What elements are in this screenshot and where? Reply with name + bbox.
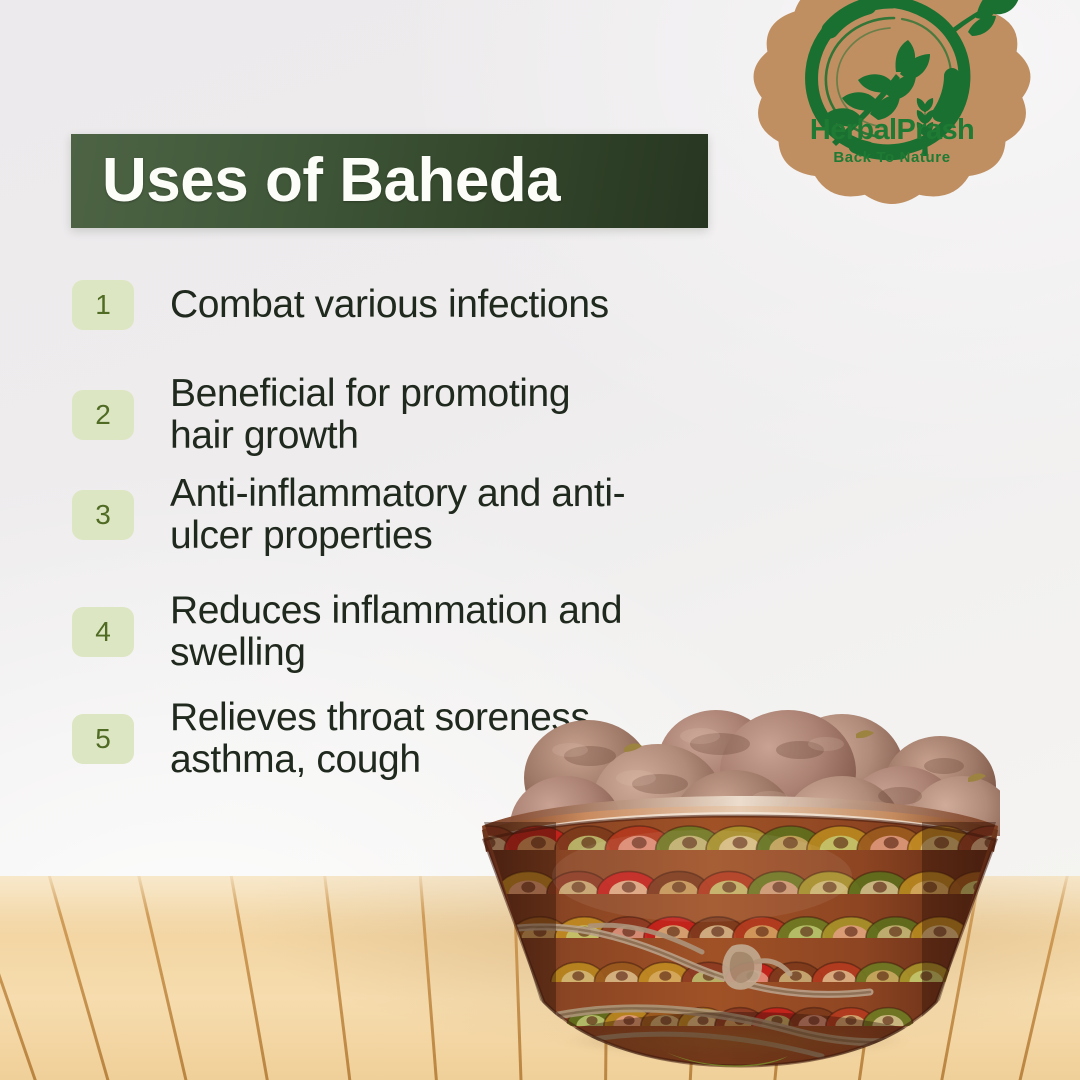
use-number-badge: 5 <box>72 714 134 764</box>
logo-mark-icon <box>744 0 1040 214</box>
use-item: 3Anti-inflammatory and anti- ulcer prope… <box>72 473 625 557</box>
table-plank-line <box>45 876 111 1080</box>
table-plank-line <box>228 876 271 1080</box>
use-item-text: Reduces inflammation and swelling <box>170 590 622 674</box>
brand-logo[interactable]: TM HerbalPrash Back To Nature <box>744 0 1040 214</box>
baheda-bowl-photo <box>470 700 1010 1080</box>
use-item-text: Anti-inflammatory and anti- ulcer proper… <box>170 473 625 557</box>
logo-tagline: Back To Nature <box>744 150 1040 165</box>
use-item: 1Combat various infections <box>72 280 609 330</box>
use-item: 4Reduces inflammation and swelling <box>72 590 622 674</box>
use-item: 2Beneficial for promoting hair growth <box>72 373 570 457</box>
use-number-badge: 1 <box>72 280 134 330</box>
table-plank-line <box>1016 876 1071 1080</box>
logo-wordmark: HerbalPrash <box>744 116 1040 145</box>
table-plank-line <box>322 876 353 1080</box>
page-title: Uses of Baheda <box>102 150 560 212</box>
use-item-text: Beneficial for promoting hair growth <box>170 373 570 457</box>
use-number-badge: 2 <box>72 390 134 440</box>
table-plank-line <box>135 876 190 1080</box>
table-plank-line <box>0 876 38 1080</box>
use-item-text: Combat various infections <box>170 284 609 326</box>
title-banner: Uses of Baheda <box>71 134 708 228</box>
poster-canvas: Uses of Baheda <box>0 0 1080 1080</box>
use-number-badge: 4 <box>72 607 134 657</box>
bowl-drop-shadow <box>496 1018 976 1064</box>
use-number-badge: 3 <box>72 490 134 540</box>
table-plank-line <box>418 876 439 1080</box>
